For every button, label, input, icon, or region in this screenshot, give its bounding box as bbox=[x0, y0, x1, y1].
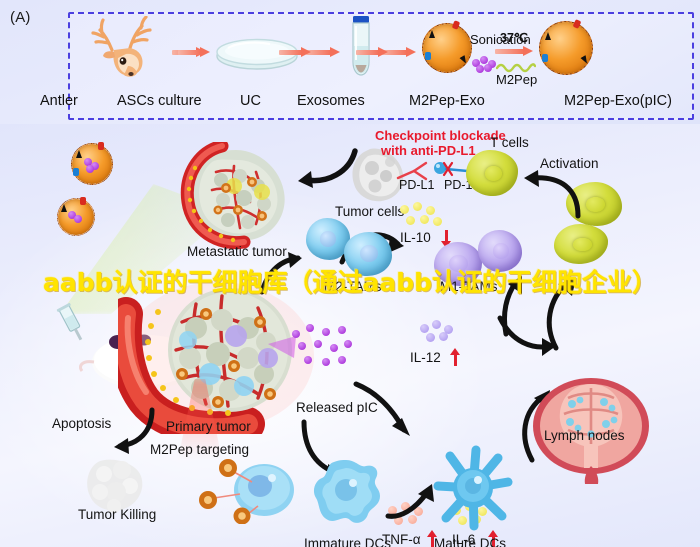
panel-a-letter: (A) bbox=[10, 9, 31, 26]
il-12-name: IL-12 bbox=[410, 350, 441, 365]
cytokine-il-12: IL-12 bbox=[410, 350, 441, 365]
t-cell bbox=[466, 150, 518, 196]
sonication-label: Sonication bbox=[470, 32, 531, 47]
arrow-tumor-to-dc bbox=[352, 382, 418, 440]
arrow-m1tam-to-tcells bbox=[492, 276, 528, 336]
m2-tam-cell bbox=[344, 232, 392, 276]
m1-tam-cell bbox=[478, 230, 522, 272]
il-12-up-arrow-icon bbox=[450, 348, 462, 366]
exosome-particle-icon bbox=[423, 24, 471, 72]
panel-a: (A) bbox=[0, 0, 700, 124]
pic-cargo-icon bbox=[472, 56, 496, 72]
step-label-uc: UC bbox=[240, 93, 261, 109]
apoptosis-label: Apoptosis bbox=[52, 416, 111, 431]
m2-tams-label: M2-TAMs bbox=[324, 279, 382, 294]
tumor-cells-label: Tumor cells bbox=[335, 204, 404, 219]
lymph-nodes-label: Lymph nodes bbox=[544, 428, 625, 443]
petri-dish-icon bbox=[214, 38, 300, 72]
immature-dcs-label: Immature DCs bbox=[304, 536, 391, 547]
arrow-culture-to-uc bbox=[306, 48, 340, 57]
step-label-m2pep-exo: M2Pep-Exo bbox=[409, 93, 485, 109]
membrane-protein-blue bbox=[425, 52, 431, 60]
exosome-nanoparticle-icon bbox=[58, 199, 94, 235]
step-label-m2pep-exo-pic: M2Pep-Exo(pIC) bbox=[564, 93, 672, 109]
immature-dendritic-cell bbox=[306, 454, 386, 532]
m2pep-peptide-icon bbox=[496, 60, 536, 72]
released-pic-dots bbox=[292, 324, 356, 378]
il-12-cytokine-dots bbox=[420, 320, 462, 348]
m1-tams-label: M1-TAMs bbox=[440, 279, 498, 294]
deer-antler-icon bbox=[90, 16, 168, 80]
step-label-exosomes: Exosomes bbox=[297, 93, 365, 109]
t-cell bbox=[554, 224, 608, 264]
tumor-killing-label: Tumor Killing bbox=[78, 507, 156, 522]
arrow-apoptosis bbox=[112, 406, 158, 454]
arrow-antler-to-culture bbox=[172, 48, 206, 57]
pd-l1-label: PD-L1 bbox=[399, 178, 434, 192]
arrow-tumor-to-m2tam bbox=[258, 252, 304, 296]
panel-b: Metastatic tumor Tumor cells Checkpoint … bbox=[0, 124, 700, 547]
step-label-antler: Antler bbox=[40, 93, 78, 109]
centrifuge-tube-icon bbox=[348, 16, 374, 78]
step-label-ascs-culture: ASCs culture bbox=[117, 93, 202, 109]
peptide-exosome-icon bbox=[540, 22, 592, 74]
primary-tumor-label: Primary tumor bbox=[166, 419, 251, 434]
mature-dcs-label: Mature DCs bbox=[434, 536, 506, 547]
scientific-figure: (A) bbox=[0, 0, 700, 547]
exosome-nanoparticle-icon bbox=[72, 144, 112, 184]
m2pep-targeting-group bbox=[196, 446, 312, 524]
t-cells-label: T cells bbox=[490, 135, 529, 150]
checkpoint-blockade-line1: Checkpoint blockade bbox=[375, 128, 506, 143]
arrow-activation bbox=[516, 166, 586, 220]
checkpoint-blockade-line2: with anti-PD-L1 bbox=[381, 143, 476, 158]
arrow-lymph-to-tcells bbox=[530, 278, 582, 350]
il-10-cytokine-dots bbox=[400, 202, 446, 232]
membrane-protein-blue bbox=[542, 54, 548, 62]
arrow-to-m2pep-exo bbox=[495, 47, 533, 56]
metastatic-tumor-illustration bbox=[178, 142, 296, 250]
mature-dendritic-cell bbox=[428, 442, 518, 532]
arrow-uc-to-exosomes bbox=[382, 48, 416, 57]
